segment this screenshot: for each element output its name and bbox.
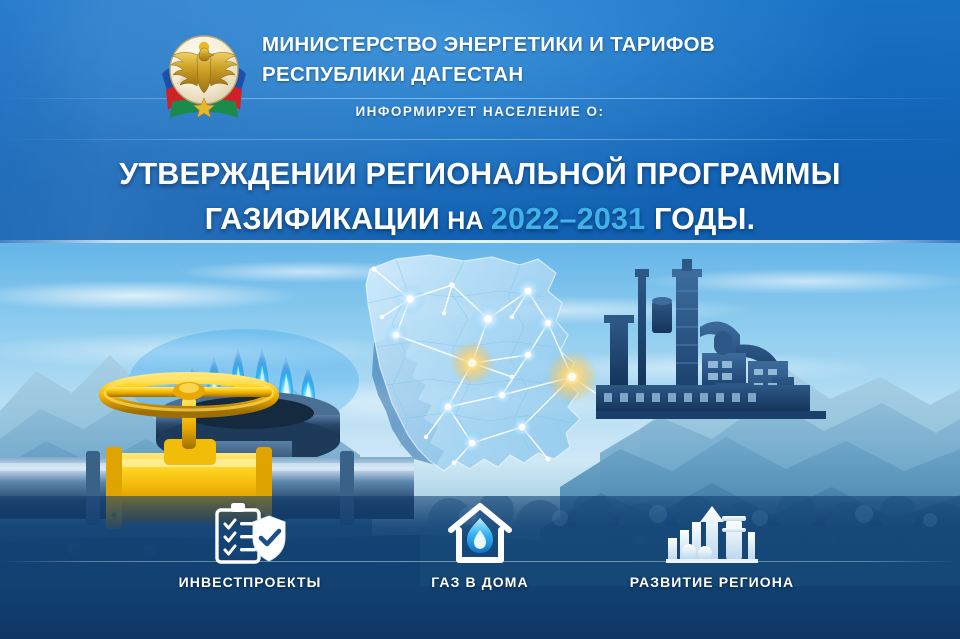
footer-item-region-development[interactable]: РАЗВИТИЕ РЕГИОНА — [582, 502, 842, 590]
clipboard-shield-check-icon — [120, 502, 380, 564]
footer-items: ИНВЕСТПРОЕКТЫ — [0, 496, 960, 639]
industrial-refinery — [596, 257, 926, 447]
headline-years: 2022–2031 — [491, 202, 645, 236]
header-divider-top — [0, 98, 960, 99]
ministry-line-1: МИНИСТЕРСТВО ЭНЕРГЕТИКИ И ТАРИФОВ — [262, 30, 922, 60]
poster: МИНИСТЕРСТВО ЭНЕРГЕТИКИ И ТАРИФОВ РЕСПУБ… — [0, 0, 960, 639]
headline-tail — [645, 202, 654, 236]
ministry-line-2: РЕСПУБЛИКИ ДАГЕСТАН — [262, 60, 922, 90]
footer-item-gas-to-homes[interactable]: ГАЗ В ДОМА — [350, 502, 610, 590]
headline-na: НА — [440, 207, 491, 235]
headline: УТВЕРЖДЕНИИ РЕГИОНАЛЬНОЙ ПРОГРАММЫ ГАЗИФ… — [0, 152, 960, 243]
headline-years-word: ГОДЫ. — [654, 202, 755, 236]
headline-subject: ГАЗИФИКАЦИИ — [205, 202, 440, 236]
footer-label-gas-to-homes: ГАЗ В ДОМА — [350, 574, 610, 590]
footer-band: ИНВЕСТПРОЕКТЫ — [0, 496, 960, 639]
factory-growth-chart-icon — [582, 502, 842, 564]
headline-line-2: ГАЗИФИКАЦИИ НА 2022–2031 ГОДЫ. — [0, 197, 960, 243]
ministry-title: МИНИСТЕРСТВО ЭНЕРГЕТИКИ И ТАРИФОВ РЕСПУБ… — [262, 30, 922, 90]
headline-line-1: УТВЕРЖДЕНИИ РЕГИОНАЛЬНОЙ ПРОГРАММЫ — [0, 152, 960, 197]
house-flame-icon — [350, 502, 610, 564]
footer-label-region-development: РАЗВИТИЕ РЕГИОНА — [582, 574, 842, 590]
header-band: МИНИСТЕРСТВО ЭНЕРГЕТИКИ И ТАРИФОВ РЕСПУБ… — [0, 0, 960, 243]
informs-text: ИНФОРМИРУЕТ НАСЕЛЕНИЕ О: — [0, 104, 960, 119]
header-divider-mid — [0, 139, 960, 140]
footer-item-investprojects[interactable]: ИНВЕСТПРОЕКТЫ — [120, 502, 380, 590]
footer-label-investprojects: ИНВЕСТПРОЕКТЫ — [120, 574, 380, 590]
